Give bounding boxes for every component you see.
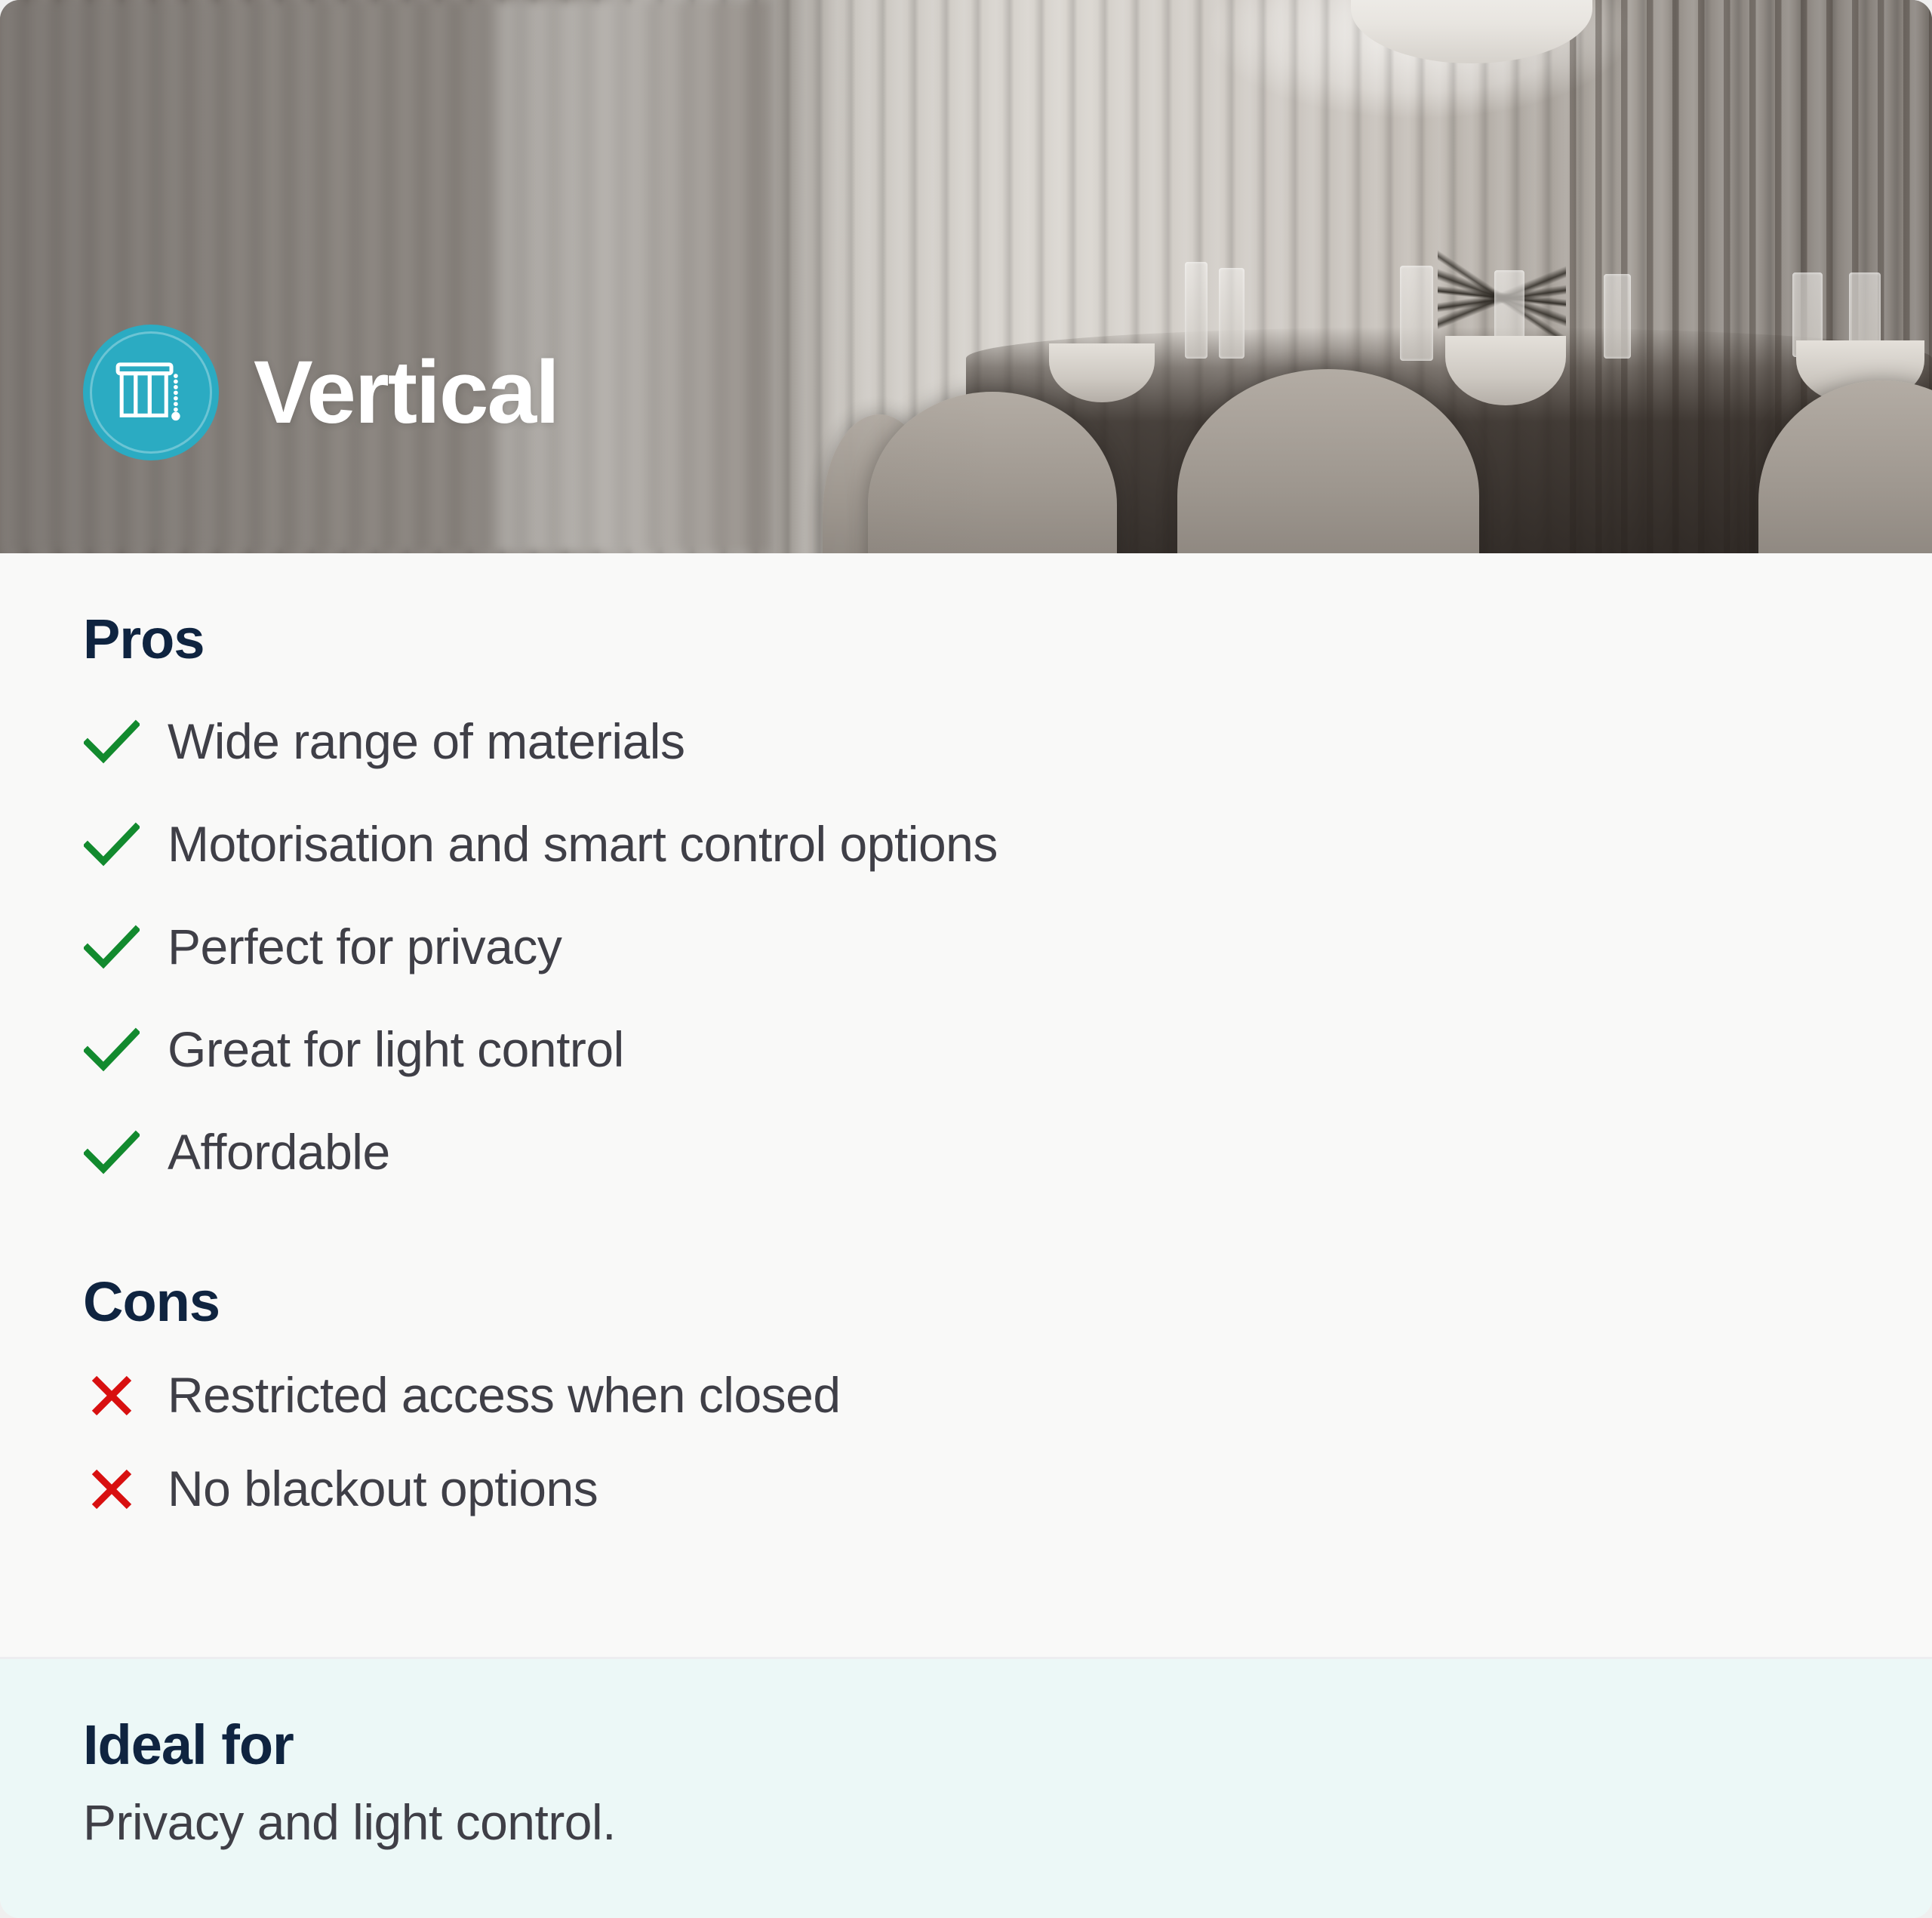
list-item: Wide range of materials [83,691,1849,793]
cross-icon [83,1367,140,1424]
check-icon [83,816,140,873]
cross-icon [83,1461,140,1518]
list-item: No blackout options [83,1442,1849,1536]
check-icon [83,919,140,976]
list-item-label: Perfect for privacy [168,919,561,975]
list-item-label: Affordable [168,1125,390,1181]
list-item-label: Restricted access when closed [168,1368,841,1424]
list-item-label: Wide range of materials [168,714,685,770]
page-title: Vertical [254,348,558,437]
check-icon [83,713,140,771]
hero-image: Vertical [0,0,1932,553]
vertical-blind-icon [110,352,192,433]
pros-heading: Pros [83,609,1849,670]
cons-list: Restricted access when closed No blackou… [83,1349,1849,1536]
hero-shadow-overlay [0,0,1932,553]
list-item: Affordable [83,1101,1849,1204]
check-icon [83,1021,140,1079]
ideal-for-heading: Ideal for [83,1715,1849,1775]
list-item: Restricted access when closed [83,1349,1849,1442]
list-item-label: Motorisation and smart control options [168,817,998,873]
list-item-label: Great for light control [168,1022,624,1078]
card-body: Pros Wide range of materials Motorisatio… [0,553,1932,1659]
check-icon [83,1124,140,1181]
pros-list: Wide range of materials Motorisation and… [83,691,1849,1204]
cons-heading: Cons [83,1272,1849,1332]
blind-type-badge [83,325,219,460]
list-item: Great for light control [83,999,1849,1101]
list-item-label: No blackout options [168,1461,598,1517]
blind-type-card: Vertical Pros Wide range of materials [0,0,1932,1918]
list-item: Perfect for privacy [83,896,1849,999]
list-item: Motorisation and smart control options [83,793,1849,896]
ideal-for-text: Privacy and light control. [83,1795,1849,1851]
ideal-for-section: Ideal for Privacy and light control. [0,1659,1932,1918]
hero-label-group: Vertical [83,325,558,460]
